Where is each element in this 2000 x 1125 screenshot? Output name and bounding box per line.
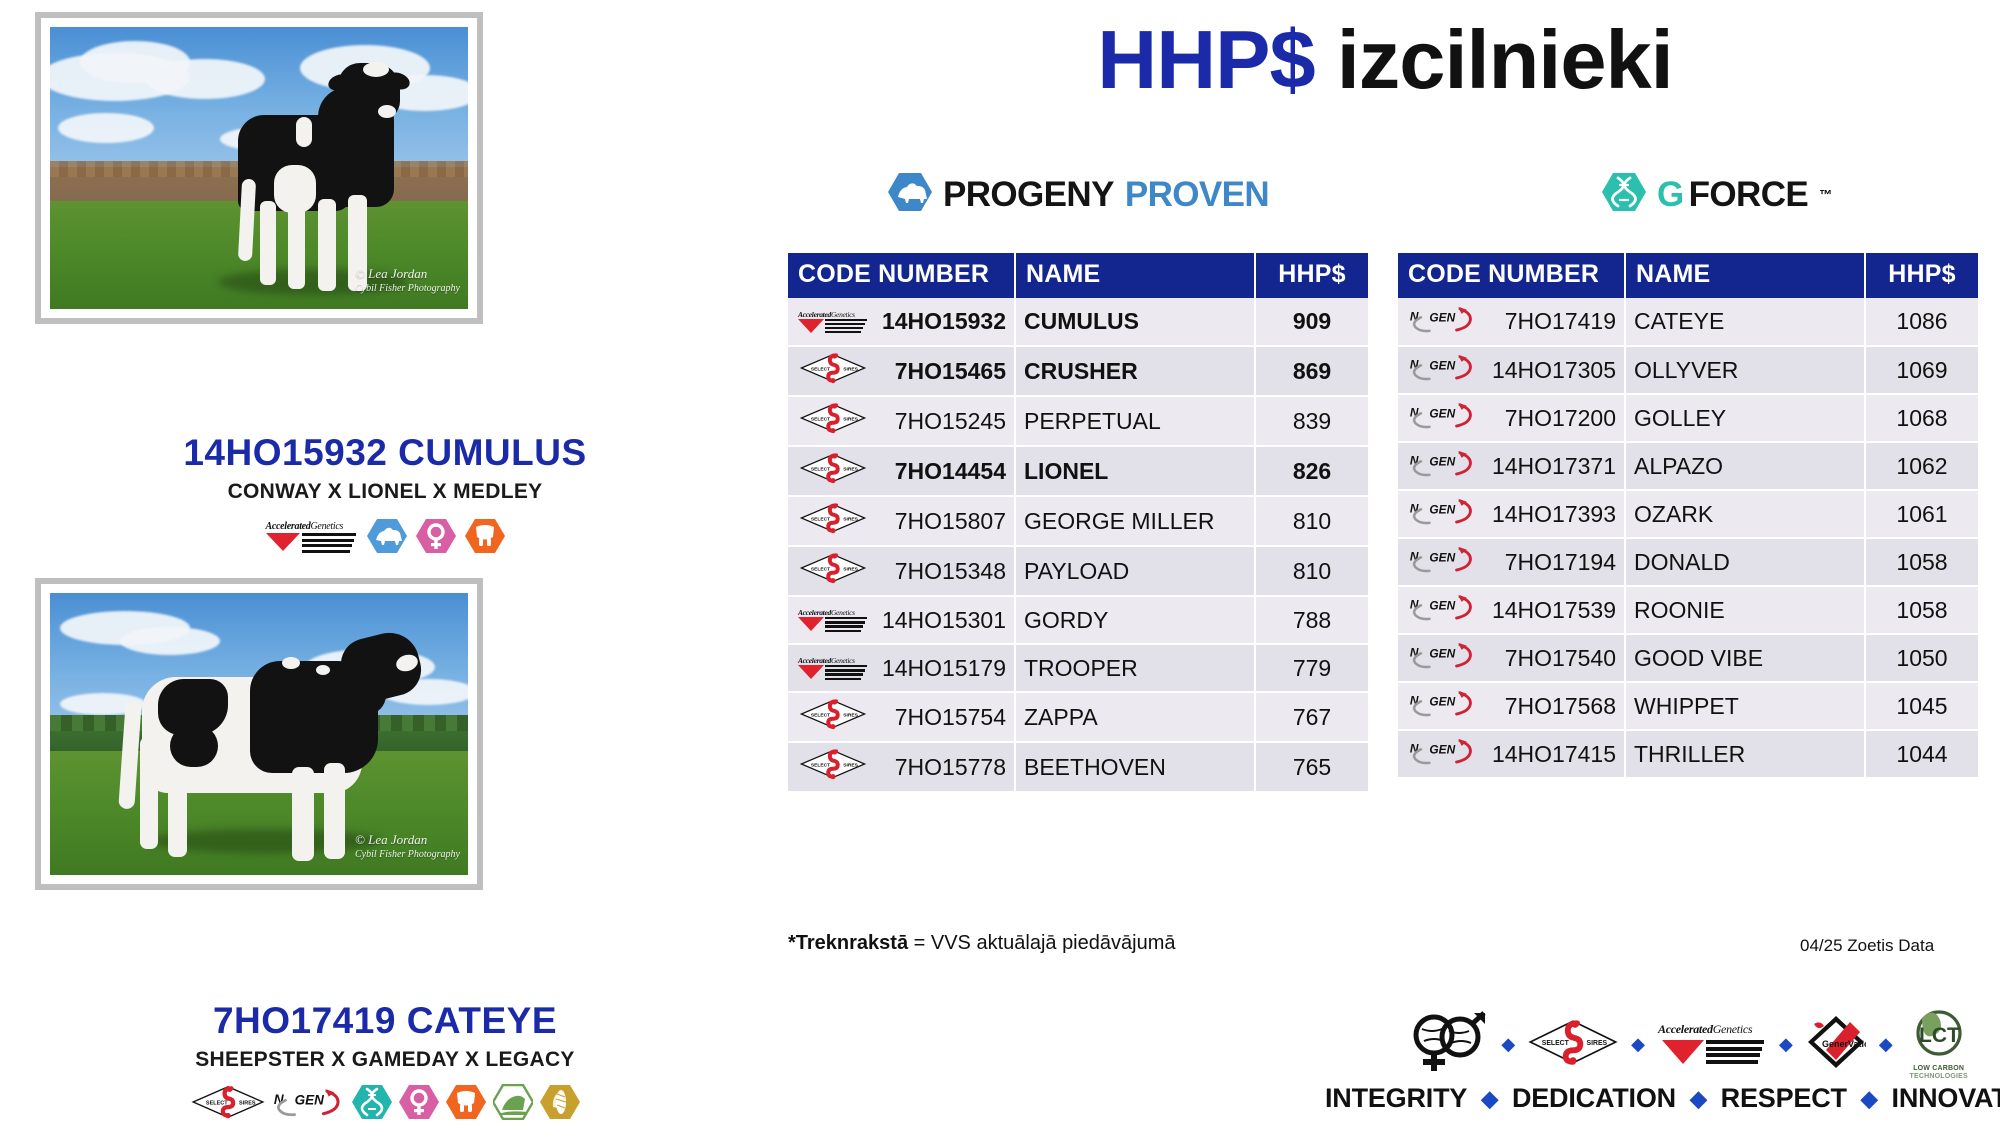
col-code-number: CODE NUMBER — [788, 253, 1015, 298]
code-number-text: 14HO15301 — [876, 607, 1006, 634]
code-number-text: 7HO17200 — [1486, 405, 1616, 432]
photo-mat: © Lea Jordan Cybil Fisher Photography — [41, 18, 477, 318]
svg-text:LCT: LCT — [1919, 1024, 1960, 1047]
accelerated-genetics-logo: AcceleratedGenetics — [798, 656, 868, 680]
cell-hhp: 826 — [1255, 446, 1368, 496]
code-number-text: 14HO15932 — [876, 308, 1006, 335]
code-number-text: 7HO15245 — [876, 408, 1006, 435]
gforce-g-label: G — [1657, 175, 1684, 215]
code-number-text: 7HO17419 — [1486, 308, 1616, 335]
svg-text:GEN: GEN — [1429, 695, 1455, 709]
table-row: AcceleratedGenetics14HO15179TROOPER779 — [788, 644, 1368, 692]
brand-logo: SELECTSIRES — [796, 502, 870, 540]
code-number-text: 7HO17194 — [1486, 549, 1616, 576]
cow-hexagon-icon — [888, 172, 932, 217]
svg-text:GEN: GEN — [1429, 455, 1455, 469]
brand-logo: SELECTSIRES — [796, 748, 870, 786]
footnote: *Treknrakstā = VVS aktuālajā piedāvājumā — [788, 932, 1175, 955]
diamond-separator-icon: ◆ — [1690, 1088, 1707, 1110]
bull-name-cateye: 7HO17419 CATEYE — [0, 1000, 770, 1042]
cell-hhp: 1058 — [1865, 538, 1978, 586]
brand-logo: SELECTSIRES — [796, 352, 870, 390]
select-sires-logo: SELECTSIRES — [799, 402, 867, 440]
svg-text:SELECT: SELECT — [811, 466, 830, 472]
cell-hhp: 767 — [1255, 692, 1368, 742]
photo-mat: © Lea Jordan Cybil Fisher Photography — [41, 584, 477, 884]
cell-name: TROOPER — [1015, 644, 1255, 692]
table-progeny-proven: CODE NUMBER NAME HHP$ AcceleratedGenetic… — [788, 253, 1368, 793]
cell-name: OLLYVER — [1625, 346, 1865, 394]
trademark-symbol: ™ — [1819, 187, 1832, 202]
teal-dna-hexagon-icon — [352, 1084, 392, 1120]
select-sires-logo: SELECTSIRES — [799, 698, 867, 736]
cell-hhp: 1086 — [1865, 298, 1978, 346]
cell-hhp: 869 — [1255, 346, 1368, 396]
svg-text:SIRES: SIRES — [239, 1101, 256, 1107]
code-number-text: 14HO17393 — [1486, 501, 1616, 528]
cell-code-number: NGEN14HO17371 — [1398, 442, 1625, 490]
cell-name: PERPETUAL — [1015, 396, 1255, 446]
bull-name-cumulus: 14HO15932 CUMULUS — [0, 432, 770, 474]
select-sires-icon: SELECT SIRES — [1528, 1017, 1618, 1072]
bull-pedigree-cumulus: CONWAY X LIONEL X MEDLEY — [0, 480, 770, 504]
svg-text:SELECT: SELECT — [811, 566, 830, 572]
col-hhp: HHP$ — [1865, 253, 1978, 298]
orange-udder-hexagon-icon — [465, 518, 505, 554]
brand-logo: SELECTSIRES — [796, 402, 870, 440]
poster-root: © Lea Jordan Cybil Fisher Photography 14… — [0, 0, 2000, 1125]
accelerated-genetics-icon: AcceleratedGenetics — [1658, 1020, 1766, 1068]
cell-name: PAYLOAD — [1015, 546, 1255, 596]
table-row: SELECTSIRES7HO15807GEORGE MILLER810 — [788, 496, 1368, 546]
cell-name: OZARK — [1625, 490, 1865, 538]
bull-badges-cateye: SELECT SIRES N GEN — [0, 1084, 770, 1120]
code-number-text: 14HO15179 — [876, 655, 1006, 682]
table-row: SELECTSIRES7HO15245PERPETUAL839 — [788, 396, 1368, 446]
bull-pedigree-cateye: SHEEPSTER X GAMEDAY X LEGACY — [0, 1048, 770, 1072]
brand-logo: SELECTSIRES — [796, 552, 870, 590]
accelerated-genetics-logo: AcceleratedGenetics — [798, 608, 868, 632]
diamond-separator-icon: ◆ — [1501, 1035, 1515, 1053]
cell-name: ZAPPA — [1015, 692, 1255, 742]
cell-code-number: SELECTSIRES7HO15245 — [788, 396, 1015, 446]
cell-name: CRUSHER — [1015, 346, 1255, 396]
cell-code-number: SELECTSIRES7HO15348 — [788, 546, 1015, 596]
nxgen-logo: NGEN — [1409, 449, 1477, 483]
table-header-row: CODE NUMBER NAME HHP$ — [788, 253, 1368, 298]
cell-code-number: SELECTSIRES7HO15778 — [788, 742, 1015, 792]
bull-photo-cumulus: © Lea Jordan Cybil Fisher Photography — [50, 27, 468, 309]
title-highlight: HHP$ — [1097, 13, 1314, 106]
cell-code-number: AcceleratedGenetics14HO15179 — [788, 644, 1015, 692]
diamond-separator-icon: ◆ — [1879, 1035, 1893, 1053]
nxgen-logo: NGEN — [1409, 593, 1477, 627]
cell-name: CUMULUS — [1015, 298, 1255, 346]
table-row: SELECTSIRES7HO14454LIONEL826 — [788, 446, 1368, 496]
svg-text:GEN: GEN — [1429, 599, 1455, 613]
cell-code-number: NGEN7HO17419 — [1398, 298, 1625, 346]
bull-showcase-panel: © Lea Jordan Cybil Fisher Photography 14… — [0, 0, 770, 1125]
dna-hexagon-icon — [1602, 172, 1646, 217]
nxgen-logo: NGEN — [1409, 401, 1477, 435]
svg-text:GenerVations: GenerVations — [1822, 1039, 1866, 1049]
accelerated-genetics-logo: AcceleratedGenetics — [798, 310, 868, 334]
cell-code-number: NGEN14HO17305 — [1398, 346, 1625, 394]
brand-logo: NGEN — [1406, 497, 1480, 531]
table-row: AcceleratedGenetics14HO15932CUMULUS909 — [788, 298, 1368, 346]
svg-text:SELECT: SELECT — [811, 516, 830, 522]
brand-logo: NGEN — [1406, 545, 1480, 579]
cell-name: THRILLER — [1625, 730, 1865, 778]
brand-logo: NGEN — [1406, 737, 1480, 771]
svg-text:GEN: GEN — [1429, 743, 1455, 757]
cell-name: LIONEL — [1015, 446, 1255, 496]
diamond-separator-icon: ◆ — [1631, 1035, 1645, 1053]
orange-udder-hexagon-icon — [446, 1084, 486, 1120]
table-row: NGEN14HO17393OZARK1061 — [1398, 490, 1978, 538]
lct-sub1: LOW CARBON — [1906, 1065, 1972, 1073]
svg-text:SELECT: SELECT — [811, 762, 830, 768]
bull-photo-frame-cumulus: © Lea Jordan Cybil Fisher Photography — [35, 12, 483, 324]
section-header-progeny-proven: PROGENY PROVEN — [888, 172, 1269, 217]
nxgen-logo: NGEN — [1409, 689, 1477, 723]
cell-hhp: 810 — [1255, 546, 1368, 596]
code-number-text: 7HO15754 — [876, 704, 1006, 731]
code-number-text: 14HO17371 — [1486, 453, 1616, 480]
photo-credit: © Lea Jordan Cybil Fisher Photography — [355, 266, 460, 295]
table-row: SELECTSIRES7HO15754ZAPPA767 — [788, 692, 1368, 742]
brand-logo: AcceleratedGenetics — [796, 656, 870, 680]
value-innovation: INNOVATION — [1892, 1083, 2000, 1114]
code-number-text: 7HO15778 — [876, 754, 1006, 781]
genervations-icon: GenerVations — [1806, 1014, 1866, 1075]
svg-text:GEN: GEN — [1429, 407, 1455, 421]
section-header-gforce: G FORCE ™ — [1602, 172, 1832, 217]
col-code-number: CODE NUMBER — [1398, 253, 1625, 298]
green-forage-hexagon-icon — [493, 1084, 533, 1120]
table-row: SELECTSIRES7HO15465CRUSHER869 — [788, 346, 1368, 396]
svg-text:SIRES: SIRES — [843, 416, 858, 422]
svg-text:SIRES: SIRES — [843, 466, 858, 472]
cell-name: GEORGE MILLER — [1015, 496, 1255, 546]
cell-name: ROONIE — [1625, 586, 1865, 634]
brand-logo: NGEN — [1406, 689, 1480, 723]
cell-code-number: SELECTSIRES7HO14454 — [788, 446, 1015, 496]
cell-name: WHIPPET — [1625, 682, 1865, 730]
col-name: NAME — [1015, 253, 1255, 298]
svg-text:SIRES: SIRES — [843, 516, 858, 522]
cell-code-number: SELECTSIRES7HO15754 — [788, 692, 1015, 742]
brand-logo: NGEN — [1406, 353, 1480, 387]
brand-logo: AcceleratedGenetics — [796, 310, 870, 334]
code-number-text: 7HO15465 — [876, 358, 1006, 385]
brand-logo: AcceleratedGenetics — [796, 608, 870, 632]
table-row: AcceleratedGenetics14HO15301GORDY788 — [788, 596, 1368, 644]
cell-hhp: 779 — [1255, 644, 1368, 692]
table-gforce: CODE NUMBER NAME HHP$ NGEN7HO17419CATEYE… — [1398, 253, 1978, 779]
brand-logo: NGEN — [1406, 449, 1480, 483]
cell-code-number: AcceleratedGenetics14HO15932 — [788, 298, 1015, 346]
svg-text:GEN: GEN — [1429, 359, 1455, 373]
brand-logo: NGEN — [1406, 401, 1480, 435]
date-stamp: 04/25 Zoetis Data — [1800, 936, 1934, 956]
cell-hhp: 810 — [1255, 496, 1368, 546]
nxgen-logo: NGEN — [1409, 737, 1477, 771]
cell-name: CATEYE — [1625, 298, 1865, 346]
col-name: NAME — [1625, 253, 1865, 298]
nxgen-logo: NGEN — [1409, 305, 1477, 339]
pink-female-hexagon-icon — [399, 1084, 439, 1120]
cell-hhp: 1050 — [1865, 634, 1978, 682]
table-row: NGEN7HO17194DONALD1058 — [1398, 538, 1978, 586]
diamond-separator-icon: ◆ — [1481, 1088, 1498, 1110]
select-sires-logo: SELECTSIRES — [799, 502, 867, 540]
code-number-text: 14HO17539 — [1486, 597, 1616, 624]
cell-name: ALPAZO — [1625, 442, 1865, 490]
code-number-text: 14HO17415 — [1486, 741, 1616, 768]
select-sires-logo: SELECTSIRES — [799, 352, 867, 390]
gforce-force-label: FORCE — [1689, 175, 1809, 215]
svg-text:SIRES: SIRES — [843, 762, 858, 768]
footnote-rest: = VVS aktuālajā piedāvājumā — [908, 932, 1175, 954]
code-number-text: 14HO17305 — [1486, 357, 1616, 384]
brand-logo: NGEN — [1406, 305, 1480, 339]
cell-hhp: 909 — [1255, 298, 1368, 346]
cell-code-number: NGEN7HO17194 — [1398, 538, 1625, 586]
cell-name: GOOD VIBE — [1625, 634, 1865, 682]
brand-footer: ◆ SELECT SIRES ◆ AcceleratedGenetics — [1380, 1005, 2000, 1114]
table-row: SELECTSIRES7HO15778BEETHOVEN765 — [788, 742, 1368, 792]
code-number-text: 7HO15807 — [876, 508, 1006, 535]
table-row: NGEN7HO17419CATEYE1086 — [1398, 298, 1978, 346]
cell-code-number: NGEN7HO17568 — [1398, 682, 1625, 730]
table-body: AcceleratedGenetics14HO15932CUMULUS909SE… — [788, 298, 1368, 792]
cell-hhp: 1045 — [1865, 682, 1978, 730]
cell-hhp: 765 — [1255, 742, 1368, 792]
code-number-text: 7HO15348 — [876, 558, 1006, 585]
cell-name: GORDY — [1015, 596, 1255, 644]
cell-name: DONALD — [1625, 538, 1865, 586]
cell-code-number: NGEN14HO17415 — [1398, 730, 1625, 778]
photo-credit: © Lea Jordan Cybil Fisher Photography — [355, 832, 460, 861]
nxgen-logo: NGEN — [1409, 641, 1477, 675]
table-row: NGEN14HO17415THRILLER1044 — [1398, 730, 1978, 778]
cell-code-number: SELECTSIRES7HO15807 — [788, 496, 1015, 546]
pink-female-hexagon-icon — [416, 518, 456, 554]
cell-hhp: 788 — [1255, 596, 1368, 644]
brand-values-row: INTEGRITY ◆ DEDICATION ◆ RESPECT ◆ INNOV… — [1380, 1083, 2000, 1114]
table-row: NGEN7HO17540GOOD VIBE1050 — [1398, 634, 1978, 682]
blue-cow-hexagon-icon — [367, 518, 407, 554]
cell-name: BEETHOVEN — [1015, 742, 1255, 792]
code-number-text: 7HO17540 — [1486, 645, 1616, 672]
cell-hhp: 1068 — [1865, 394, 1978, 442]
cell-hhp: 1044 — [1865, 730, 1978, 778]
code-number-text: 7HO14454 — [876, 458, 1006, 485]
nxgen-logo: NGEN — [1409, 497, 1477, 531]
table-row: NGEN7HO17568WHIPPET1045 — [1398, 682, 1978, 730]
select-sires-global-icon — [1408, 1009, 1488, 1080]
bull-badges-cumulus: AcceleratedGenetics — [0, 518, 770, 554]
brand-logo: NGEN — [1406, 641, 1480, 675]
value-integrity: INTEGRITY — [1325, 1083, 1467, 1114]
value-respect: RESPECT — [1721, 1083, 1847, 1114]
svg-text:SIRES: SIRES — [843, 712, 858, 718]
brand-logo-row: ◆ SELECT SIRES ◆ AcceleratedGenetics — [1380, 1005, 2000, 1083]
footnote-bold: *Treknrakstā — [788, 932, 908, 954]
nxgen-logo: NGEN — [1409, 545, 1477, 579]
nxgen-logo: NGEN — [1409, 353, 1477, 387]
cell-name: GOLLEY — [1625, 394, 1865, 442]
cell-hhp: 1069 — [1865, 346, 1978, 394]
value-dedication: DEDICATION — [1512, 1083, 1676, 1114]
svg-text:SIRES: SIRES — [1587, 1040, 1608, 1047]
svg-text:SIRES: SIRES — [843, 566, 858, 572]
code-number-text: 7HO17568 — [1486, 693, 1616, 720]
bull-photo-frame-cateye: © Lea Jordan Cybil Fisher Photography — [35, 578, 483, 890]
cell-hhp: 1062 — [1865, 442, 1978, 490]
table-row: SELECTSIRES7HO15348PAYLOAD810 — [788, 546, 1368, 596]
col-hhp: HHP$ — [1255, 253, 1368, 298]
svg-text:SELECT: SELECT — [1542, 1040, 1570, 1047]
cell-hhp: 839 — [1255, 396, 1368, 446]
diamond-separator-icon: ◆ — [1861, 1088, 1878, 1110]
select-sires-logo: SELECTSIRES — [799, 452, 867, 490]
svg-text:GEN: GEN — [1429, 310, 1455, 324]
brand-logo: SELECTSIRES — [796, 452, 870, 490]
table-row: NGEN14HO17305OLLYVER1069 — [1398, 346, 1978, 394]
table-body: NGEN7HO17419CATEYE1086NGEN14HO17305OLLYV… — [1398, 298, 1978, 778]
cell-code-number: NGEN7HO17540 — [1398, 634, 1625, 682]
lct-sub2: TECHNOLOGIES — [1906, 1073, 1972, 1081]
lct-icon: LCT LOW CARBON TECHNOLOGIES — [1906, 1008, 1972, 1080]
progeny-label: PROGENY — [943, 175, 1114, 215]
table-row: NGEN7HO17200GOLLEY1068 — [1398, 394, 1978, 442]
cell-code-number: SELECTSIRES7HO15465 — [788, 346, 1015, 396]
select-sires-logo: SELECTSIRES — [799, 748, 867, 786]
table-row: NGEN14HO17539ROONIE1058 — [1398, 586, 1978, 634]
diamond-separator-icon: ◆ — [1779, 1035, 1793, 1053]
svg-text:GEN: GEN — [1429, 551, 1455, 565]
accelerated-genetics-logo: AcceleratedGenetics — [266, 521, 358, 551]
svg-text:SELECT: SELECT — [811, 712, 830, 718]
page-title: HHP$ izcilnieki — [770, 12, 2000, 108]
cell-code-number: AcceleratedGenetics14HO15301 — [788, 596, 1015, 644]
nxgen-logo: N GEN — [273, 1087, 345, 1117]
gold-corn-hexagon-icon — [540, 1084, 580, 1120]
cell-code-number: NGEN7HO17200 — [1398, 394, 1625, 442]
svg-text:GEN: GEN — [295, 1093, 325, 1108]
cell-hhp: 1058 — [1865, 586, 1978, 634]
cell-hhp: 1061 — [1865, 490, 1978, 538]
cell-code-number: NGEN14HO17393 — [1398, 490, 1625, 538]
svg-text:GEN: GEN — [1429, 503, 1455, 517]
title-rest: izcilnieki — [1337, 13, 1673, 106]
svg-text:SELECT: SELECT — [811, 366, 830, 372]
table-row: NGEN14HO17371ALPAZO1062 — [1398, 442, 1978, 490]
svg-text:SIRES: SIRES — [843, 366, 858, 372]
proven-label: PROVEN — [1125, 175, 1269, 215]
brand-logo: NGEN — [1406, 593, 1480, 627]
select-sires-logo: SELECTSIRES — [799, 552, 867, 590]
svg-text:GEN: GEN — [1429, 647, 1455, 661]
brand-logo: SELECTSIRES — [796, 698, 870, 736]
table-header-row: CODE NUMBER NAME HHP$ — [1398, 253, 1978, 298]
select-sires-logo: SELECT SIRES — [190, 1085, 266, 1119]
bull-photo-cateye: © Lea Jordan Cybil Fisher Photography — [50, 593, 468, 875]
svg-text:SELECT: SELECT — [811, 416, 830, 422]
cell-code-number: NGEN14HO17539 — [1398, 586, 1625, 634]
